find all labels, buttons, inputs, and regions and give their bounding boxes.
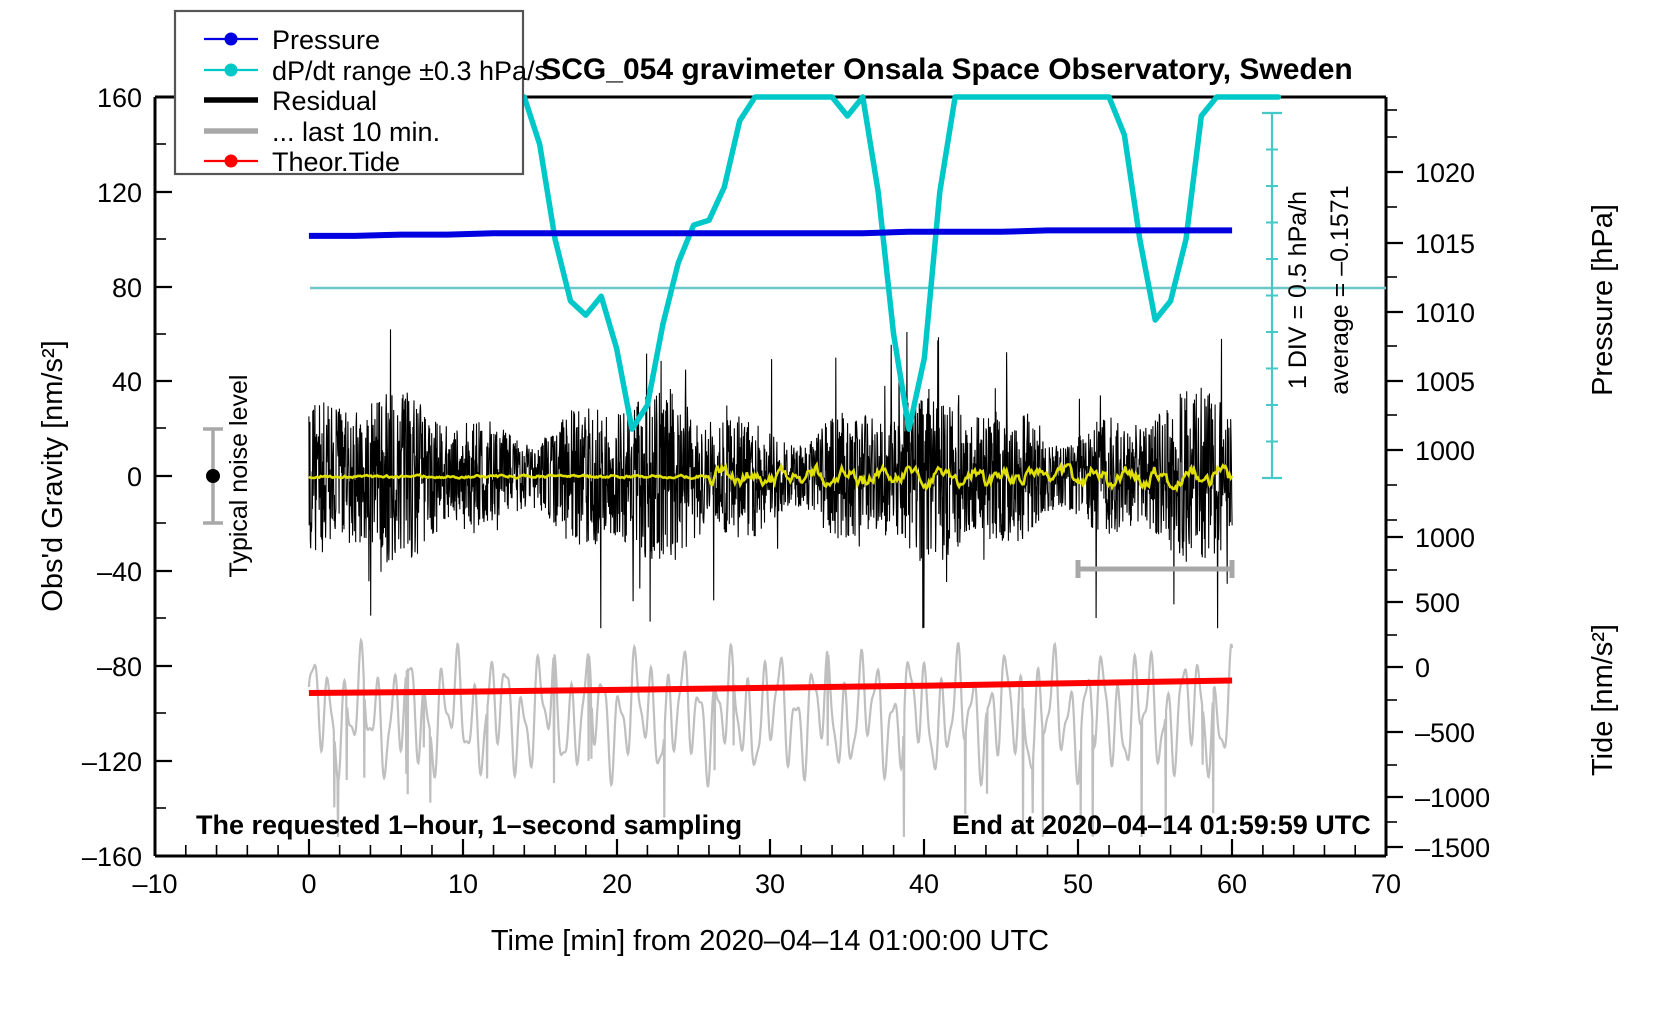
typical-noise-level-marker <box>203 429 223 523</box>
legend-label: ... last 10 min. <box>272 117 440 147</box>
tide-tick-label: –500 <box>1415 718 1475 748</box>
y-left-tick-label: 160 <box>97 83 142 113</box>
legend-label: Residual <box>272 86 377 116</box>
x-tick-label: 20 <box>602 869 632 899</box>
y-left-tick-labels: 160 120 80 40 0 –40 –80 –120 –160 <box>82 83 142 872</box>
y-left-tick-label: –80 <box>97 652 142 682</box>
legend[interactable]: Pressure dP/dt range ±0.3 hPa/s Residual… <box>175 11 548 177</box>
y-left-ticks <box>155 97 172 856</box>
y-right-pressure-title: Pressure [hPa] <box>1587 204 1619 396</box>
plot-svg: 160 120 80 40 0 –40 –80 –120 –160 Obs'd … <box>0 0 1676 1020</box>
y-left-tick-label: –160 <box>82 842 142 872</box>
typical-noise-level-label: Typical noise level <box>225 375 253 578</box>
div-scale-annotation: 1 DIV = 0.5 hPa/h <box>1284 191 1312 389</box>
legend-label: Pressure <box>272 25 380 55</box>
chart-canvas: 160 120 80 40 0 –40 –80 –120 –160 Obs'd … <box>0 0 1676 1020</box>
x-tick-labels: –10 0 10 20 30 40 50 60 70 <box>132 869 1401 899</box>
sampling-note: The requested 1–hour, 1–second sampling <box>196 810 742 840</box>
pressure-tick-label: 1015 <box>1415 229 1475 259</box>
y-right-tide-ticks <box>1386 520 1403 847</box>
pressure-tick-label: 1020 <box>1415 158 1475 188</box>
y-right-tide-labels: 1000 500 0 –500 –1000 –1500 <box>1415 523 1490 863</box>
legend-label: dP/dt range ±0.3 hPa/s <box>272 56 548 86</box>
y-right-pressure-labels: 1020 1015 1010 1005 1000 <box>1415 158 1475 466</box>
average-annotation: average = –0.1571 <box>1326 185 1354 394</box>
pressure-marker-icon <box>225 33 238 46</box>
y-right-pressure-ticks <box>1386 110 1403 485</box>
page-title: SCG_054 gravimeter Onsala Space Observat… <box>541 53 1353 86</box>
y-left-tick-label: –40 <box>97 557 142 587</box>
y-left-tick-label: 0 <box>127 462 142 492</box>
y-left-tick-label: –120 <box>82 747 142 777</box>
tide-tick-label: –1500 <box>1415 833 1490 863</box>
last-10-min-bar <box>1078 560 1232 578</box>
pressure-tick-label: 1000 <box>1415 436 1475 466</box>
pressure-tick-label: 1010 <box>1415 298 1475 328</box>
y-right-tide-title: Tide [nm/s²] <box>1587 624 1619 776</box>
dpdt-scale-bar <box>1262 113 1282 478</box>
x-axis-title: Time [min] from 2020–04–14 01:00:00 UTC <box>491 925 1049 957</box>
y-left-tick-label: 40 <box>112 367 142 397</box>
pressure-tick-label: 1005 <box>1415 367 1475 397</box>
tide-tick-label: 1000 <box>1415 523 1475 553</box>
x-tick-label: 60 <box>1217 869 1247 899</box>
theor-tide-trace <box>309 681 1232 694</box>
tide-tick-label: 0 <box>1415 653 1430 683</box>
x-tick-label: 40 <box>909 869 939 899</box>
dpdt-marker-icon <box>225 64 238 77</box>
x-tick-label: 10 <box>448 869 478 899</box>
y-left-tick-label: 80 <box>112 273 142 303</box>
last10-tide-trace <box>309 640 1232 837</box>
x-tick-label: 0 <box>301 869 316 899</box>
tide-marker-icon <box>225 155 238 168</box>
y-left-tick-label: 120 <box>97 178 142 208</box>
legend-label: Theor.Tide <box>272 147 400 177</box>
x-tick-label: 50 <box>1063 869 1093 899</box>
x-tick-label: 30 <box>755 869 785 899</box>
x-ticks <box>155 839 1386 856</box>
end-time-note: End at 2020–04–14 01:59:59 UTC <box>952 810 1371 840</box>
tide-tick-label: 500 <box>1415 588 1460 618</box>
tide-tick-label: –1000 <box>1415 783 1490 813</box>
x-tick-label: –10 <box>132 869 177 899</box>
y-left-axis-title: Obs'd Gravity [nm/s²] <box>37 340 69 611</box>
pressure-trace <box>309 230 1232 236</box>
x-tick-label: 70 <box>1371 869 1401 899</box>
